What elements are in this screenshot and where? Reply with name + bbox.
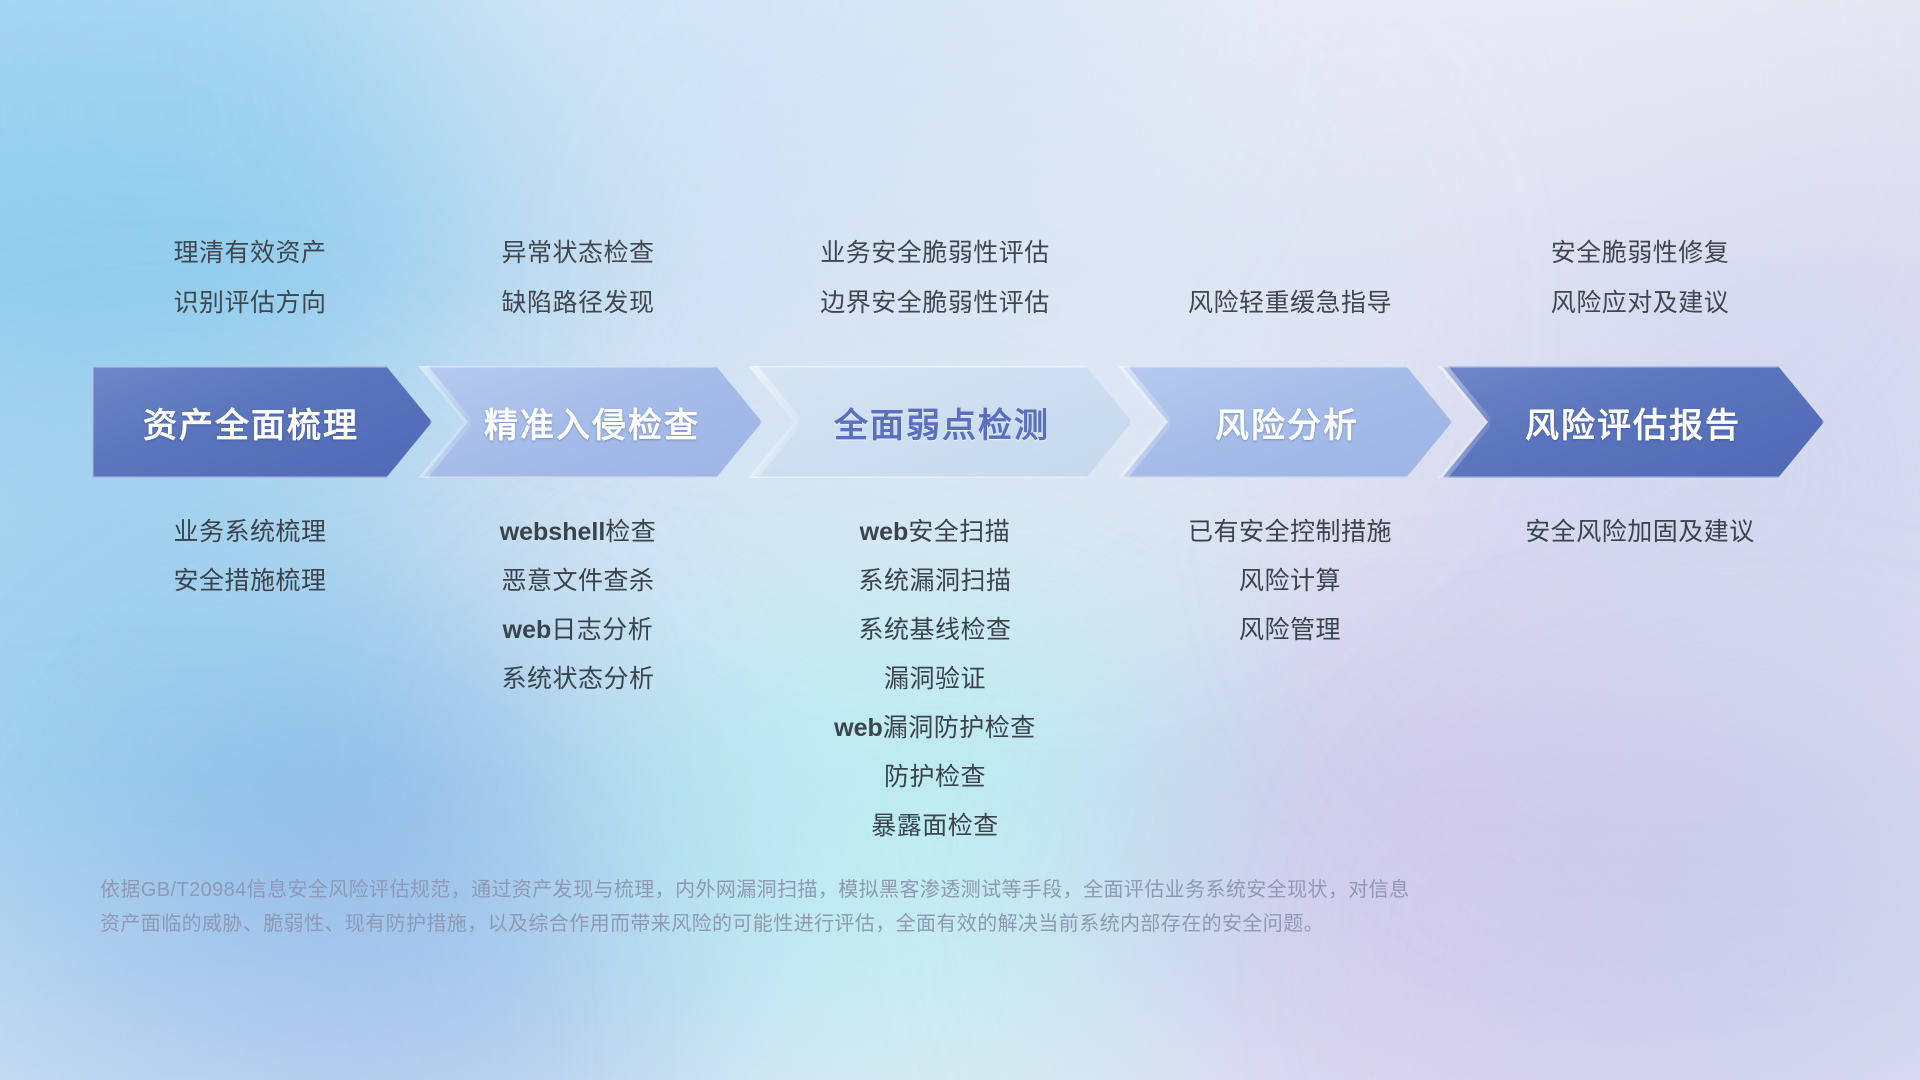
feature-latin-token: web [834,714,883,742]
process-stage-asset-inventory[interactable]: 资产全面梳理 [92,366,432,478]
top-features-assessment-report: 安全脆弱性修复风险应对及建议 [1430,228,1850,328]
process-stage-intrusion-check[interactable]: 精准入侵检查 [422,366,762,478]
stage-title-weakness-detection: 全面弱点检测 [752,398,1132,447]
bottom-feature-item: 安全风险加固及建议 [1420,508,1860,557]
top-feature-item: 风险应对及建议 [1430,278,1850,328]
top-feature-item: 业务安全脆弱性评估 [725,228,1145,278]
process-arrow-band: 资产全面梳理精准入侵检查全面弱点检测风险分析风险评估报告 [0,366,1920,478]
stage-title-assessment-report: 风险评估报告 [1442,398,1824,447]
bottom-feature-item: 风险管理 [1070,606,1510,655]
process-stage-assessment-report[interactable]: 风险评估报告 [1442,366,1824,478]
bottom-feature-item: 防护检查 [715,753,1155,802]
footer-description: 依据GB/T20984信息安全风险评估规范，通过资产发现与梳理，内外网漏洞扫描，… [100,873,1620,941]
top-feature-row: 理清有效资产识别评估方向异常状态检查缺陷路径发现业务安全脆弱性评估边界安全脆弱性… [0,228,1920,328]
stage-title-intrusion-check: 精准入侵检查 [422,398,762,447]
process-stage-risk-analysis[interactable]: 风险分析 [1122,366,1452,478]
bottom-feature-item: web漏洞防护检查 [715,704,1155,753]
top-feature-item: 安全脆弱性修复 [1430,228,1850,278]
footer-line-1: 依据GB/T20984信息安全风险评估规范，通过资产发现与梳理，内外网漏洞扫描，… [100,873,1620,907]
bottom-features-assessment-report: 安全风险加固及建议 [1420,508,1860,557]
stage-title-asset-inventory: 资产全面梳理 [92,398,432,447]
feature-latin-token: web [860,518,909,546]
bottom-feature-item: 风险计算 [1070,557,1510,606]
process-stage-weakness-detection[interactable]: 全面弱点检测 [752,366,1132,478]
feature-latin-token: webshell [500,518,606,546]
slide-canvas: 理清有效资产识别评估方向异常状态检查缺陷路径发现业务安全脆弱性评估边界安全脆弱性… [0,0,1920,1080]
bottom-feature-item: 暴露面检查 [715,802,1155,851]
footer-line-2: 资产面临的威胁、脆弱性、现有防护措施，以及综合作用而带来风险的可能性进行评估，全… [100,907,1620,941]
stage-title-risk-analysis: 风险分析 [1122,398,1452,447]
feature-latin-token: web [503,616,552,644]
bottom-feature-item: 漏洞验证 [715,655,1155,704]
